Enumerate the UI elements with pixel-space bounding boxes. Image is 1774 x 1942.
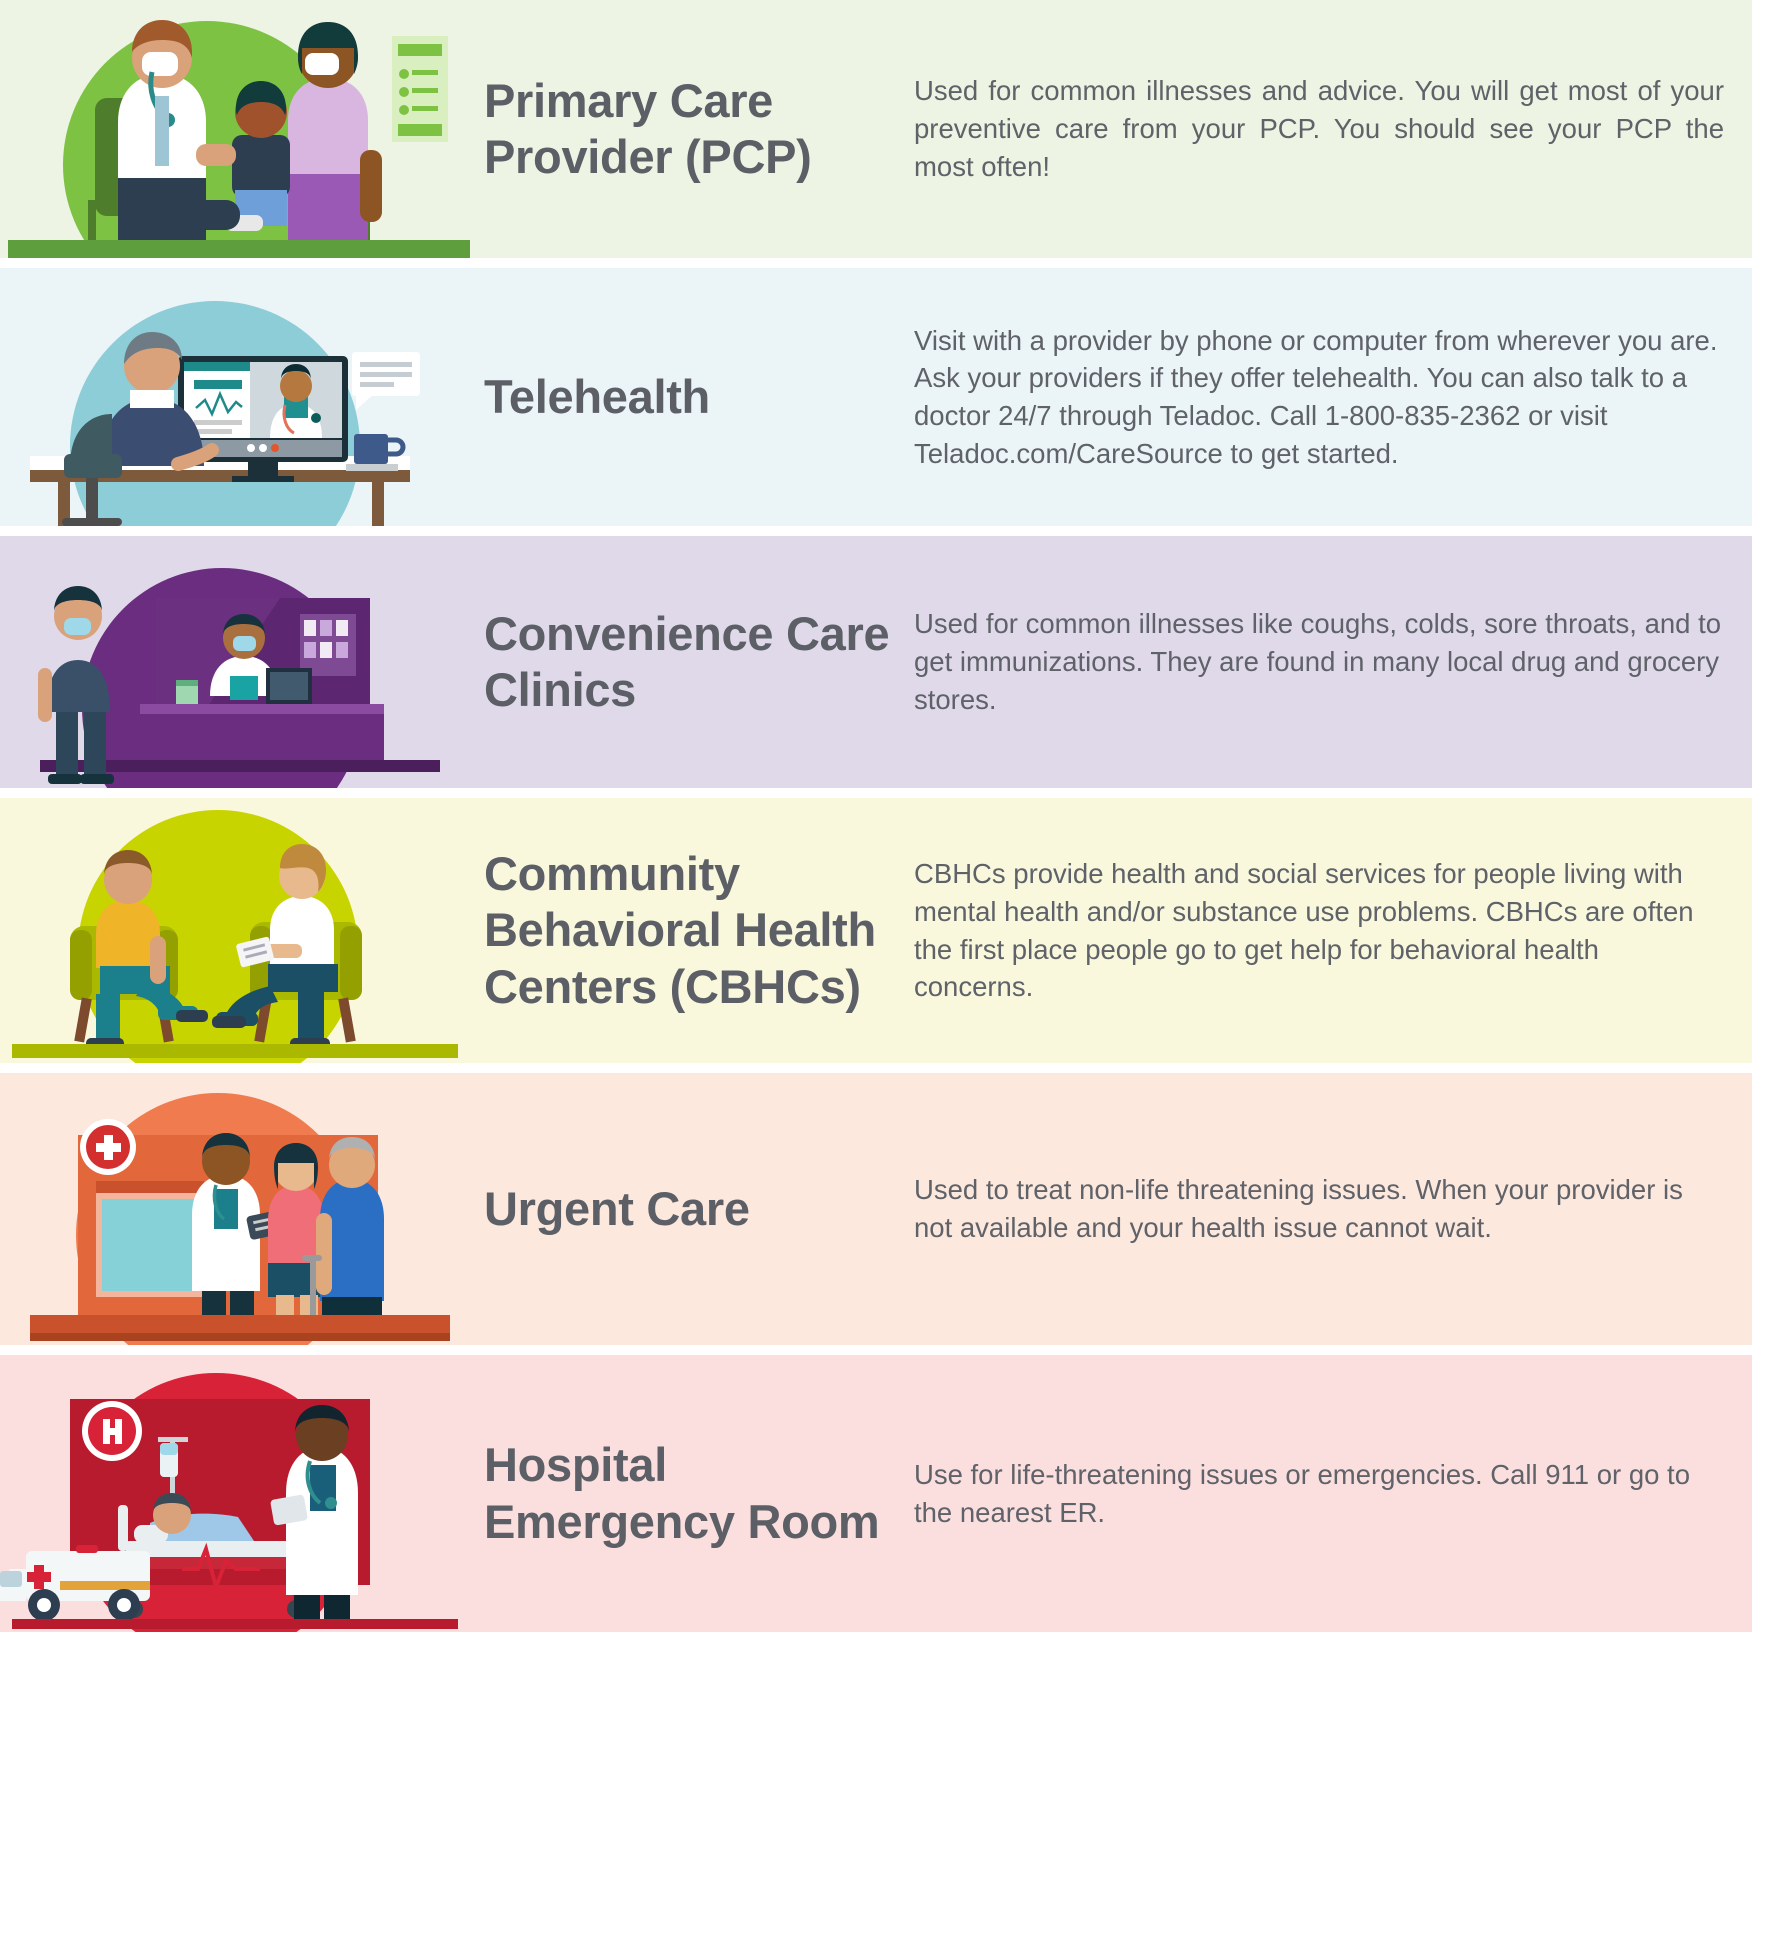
- title-col-urgent-care: Urgent Care: [470, 1073, 900, 1345]
- care-row-community-behavioral-health-centers: Community Behavioral Health Centers (CBH…: [0, 798, 1752, 1063]
- desc-col-community-behavioral-health-centers: CBHCs provide health and social services…: [900, 798, 1752, 1063]
- care-description: Used for common illnesses and advice. Yo…: [914, 72, 1724, 185]
- care-title: Telehealth: [484, 369, 710, 425]
- row-divider: [0, 1345, 1752, 1355]
- illustration-urgent-care-doctor-with-patients: [0, 1073, 470, 1345]
- care-description: Used for common illnesses like coughs, c…: [914, 605, 1724, 718]
- title-col-convenience-care-clinics: Convenience Care Clinics: [470, 536, 900, 788]
- illustration-cbhc-therapy-session-two-people-chairs: [0, 798, 470, 1063]
- title-col-primary-care-provider: Primary Care Provider (PCP): [470, 0, 900, 258]
- care-row-urgent-care: Urgent Care Used to treat non-life threa…: [0, 1073, 1752, 1345]
- row-divider: [0, 258, 1752, 268]
- illustration-hospital-er-ambulance-patient-bed-doctor: [0, 1355, 470, 1632]
- desc-col-urgent-care: Used to treat non-life threatening issue…: [900, 1073, 1752, 1345]
- title-col-hospital-emergency-room: Hospital Emergency Room: [470, 1355, 900, 1632]
- row-divider: [0, 526, 1752, 536]
- illustration-pcp-doctor-examining-child-with-parent: [0, 0, 470, 258]
- row-divider: [0, 788, 1752, 798]
- title-col-telehealth: Telehealth: [470, 268, 900, 526]
- illustration-convenience-clinic-pharmacy-counter: [0, 536, 470, 788]
- illustration-telehealth-man-at-computer-video-visit: [0, 268, 470, 526]
- care-options-infographic: Primary Care Provider (PCP) Used for com…: [0, 0, 1774, 1942]
- row-divider: [0, 1063, 1752, 1073]
- care-title: Community Behavioral Health Centers (CBH…: [484, 846, 900, 1015]
- care-row-hospital-emergency-room: Hospital Emergency Room Use for life-thr…: [0, 1355, 1752, 1632]
- care-description: Visit with a provider by phone or comput…: [914, 322, 1724, 473]
- care-description: Used to treat non-life threatening issue…: [914, 1171, 1724, 1246]
- care-row-primary-care-provider: Primary Care Provider (PCP) Used for com…: [0, 0, 1752, 258]
- desc-col-primary-care-provider: Used for common illnesses and advice. Yo…: [900, 0, 1752, 258]
- care-description: CBHCs provide health and social services…: [914, 855, 1724, 1006]
- care-title: Urgent Care: [484, 1181, 750, 1237]
- care-row-convenience-care-clinics: Convenience Care Clinics Used for common…: [0, 536, 1752, 788]
- care-description: Use for life-threatening issues or emerg…: [914, 1456, 1724, 1531]
- care-title: Primary Care Provider (PCP): [484, 73, 900, 186]
- care-title: Convenience Care Clinics: [484, 606, 900, 719]
- title-col-community-behavioral-health-centers: Community Behavioral Health Centers (CBH…: [470, 798, 900, 1063]
- care-title: Hospital Emergency Room: [484, 1437, 900, 1550]
- desc-col-convenience-care-clinics: Used for common illnesses like coughs, c…: [900, 536, 1752, 788]
- desc-col-telehealth: Visit with a provider by phone or comput…: [900, 268, 1752, 526]
- desc-col-hospital-emergency-room: Use for life-threatening issues or emerg…: [900, 1355, 1752, 1632]
- care-row-telehealth: Telehealth Visit with a provider by phon…: [0, 268, 1752, 526]
